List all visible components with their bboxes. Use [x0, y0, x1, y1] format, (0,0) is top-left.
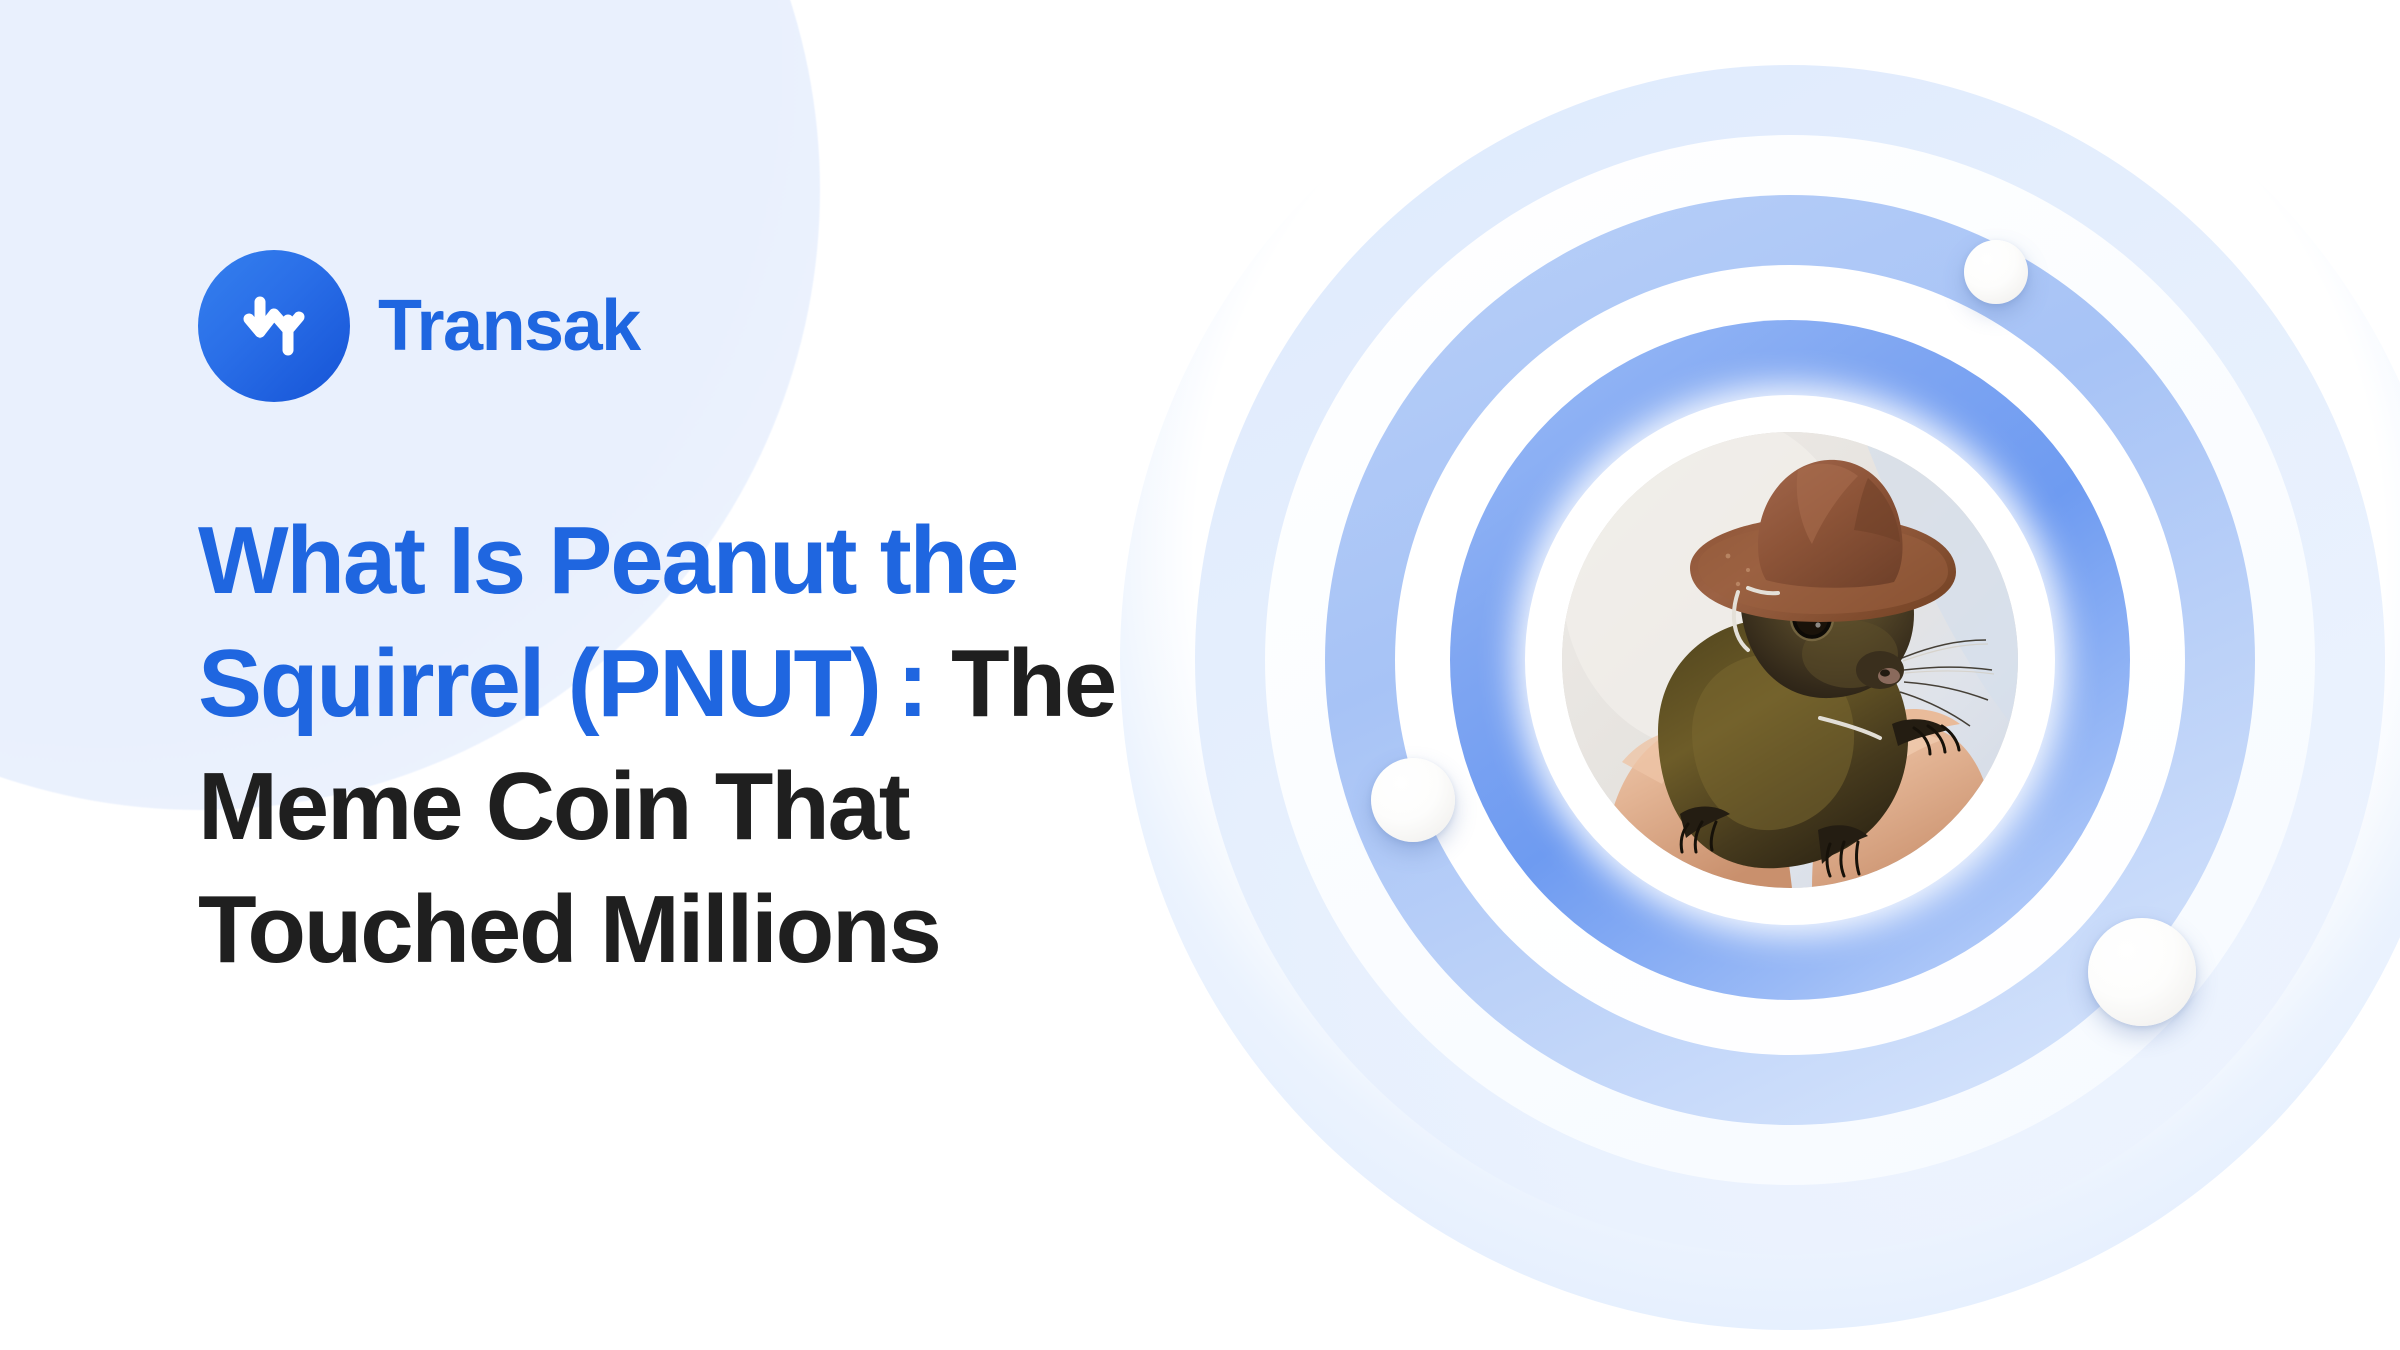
brand-lockup[interactable]: Transak [198, 250, 640, 402]
page-title-accent: What Is Peanut the Squirrel (PNUT) : [198, 507, 1017, 737]
sphere-top [1964, 240, 2028, 304]
sphere-left [1371, 758, 1455, 842]
page-title: What Is Peanut the Squirrel (PNUT) : The… [198, 500, 1158, 992]
brand-wordmark: Transak [378, 290, 640, 362]
sphere-right [2088, 918, 2196, 1026]
banner-canvas: Transak What Is Peanut the Squirrel (PNU… [0, 0, 2400, 1350]
transak-zigzag-arrow-icon [198, 250, 350, 402]
hero-photo-squirrel [1562, 432, 2018, 888]
